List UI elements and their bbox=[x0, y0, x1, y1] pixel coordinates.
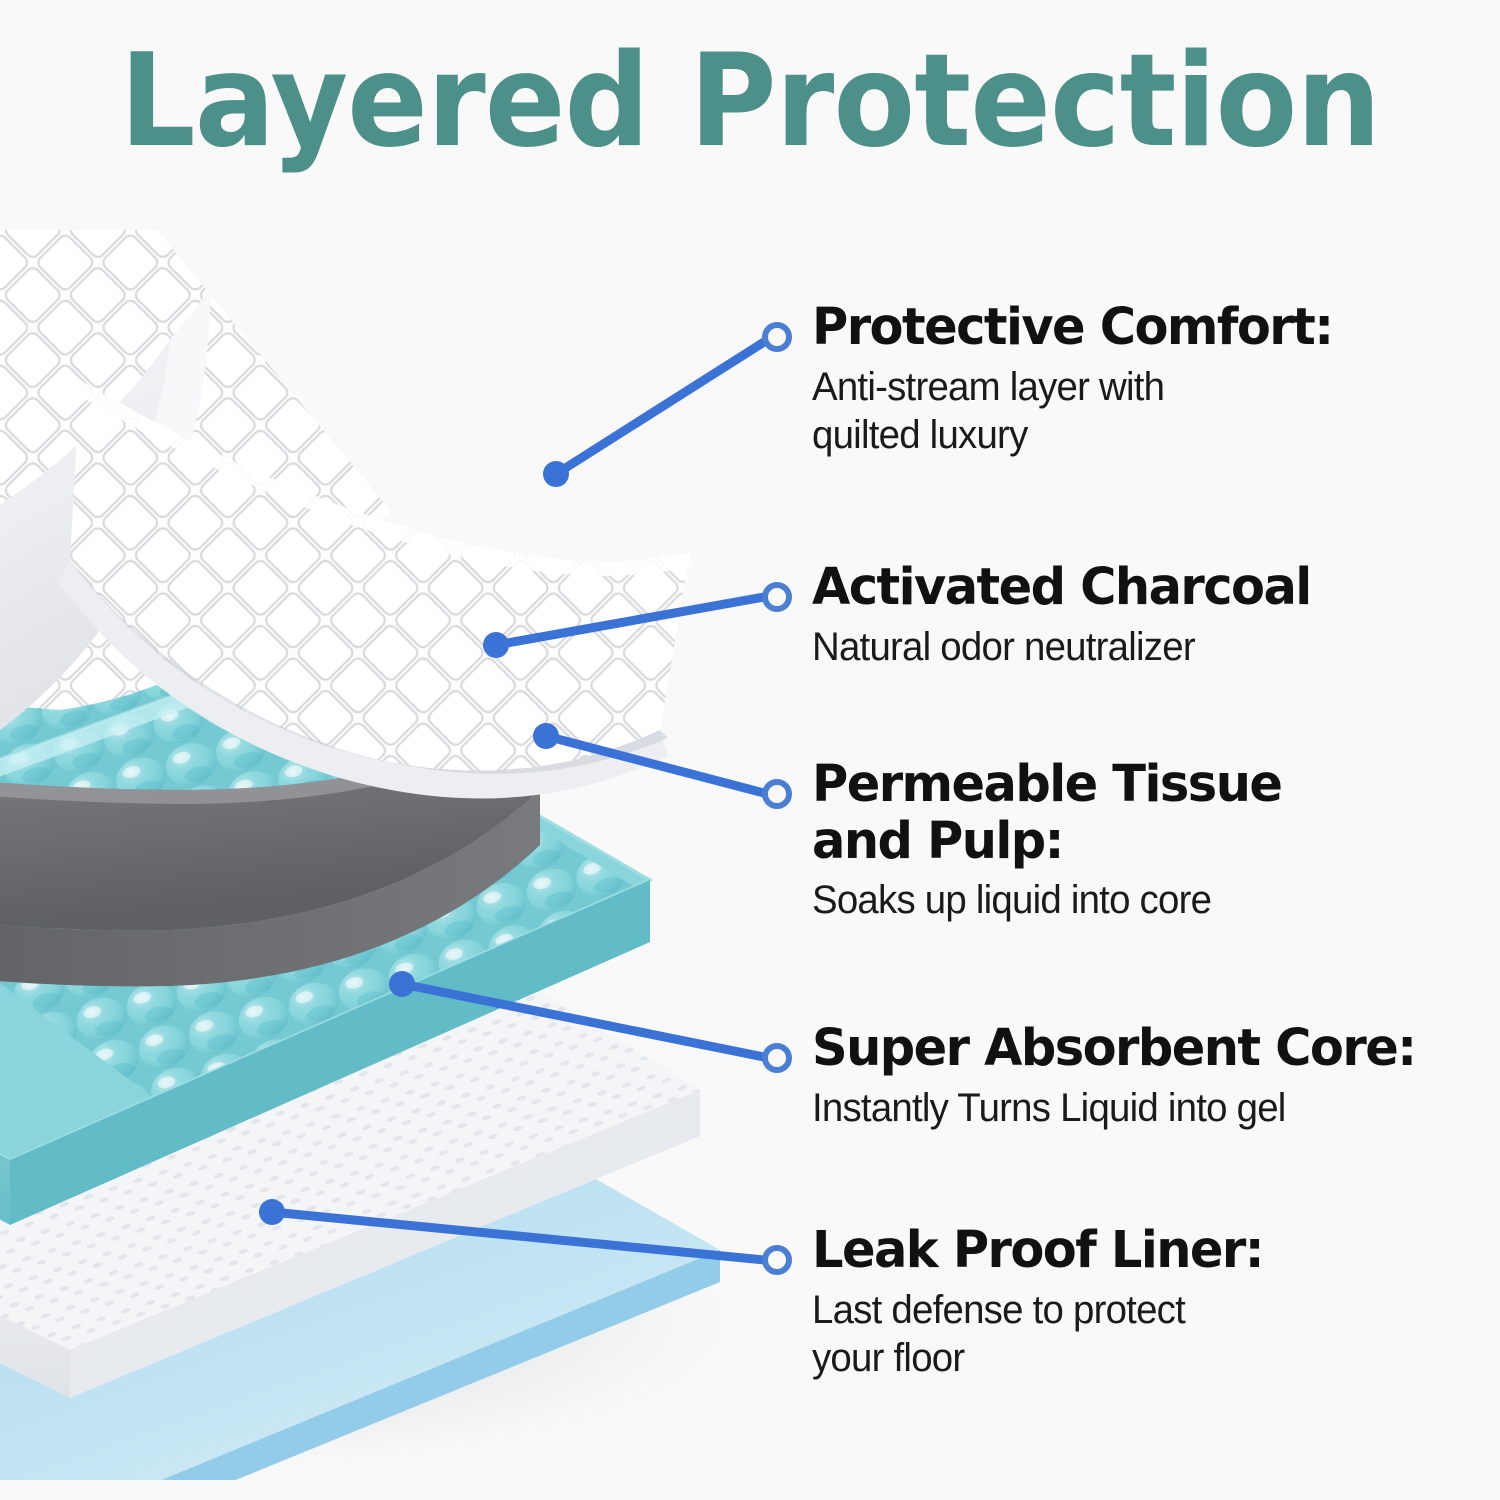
callout-activated-charcoal: Activated Charcoal Natural odor neutrali… bbox=[762, 560, 1492, 671]
callout-description: Anti-stream layer with quilted luxury bbox=[812, 363, 1465, 461]
callout-text-block: Permeable Tissue and Pulp: Soaks up liqu… bbox=[812, 757, 1492, 925]
infographic-canvas: Layered Protection bbox=[0, 0, 1500, 1500]
callout-text-block: Super Absorbent Core: Instantly Turns Li… bbox=[812, 1021, 1492, 1132]
open-circle-marker-icon bbox=[762, 1245, 792, 1275]
open-circle-marker-icon bbox=[762, 322, 792, 352]
callout-description: Natural odor neutralizer bbox=[812, 623, 1465, 672]
callout-text-block: Leak Proof Liner: Last defense to protec… bbox=[812, 1223, 1492, 1383]
callout-description: Soaks up liquid into core bbox=[812, 876, 1465, 925]
callout-description: Last defense to protect your floor bbox=[812, 1286, 1465, 1384]
callout-leak-proof-liner: Leak Proof Liner: Last defense to protec… bbox=[762, 1223, 1492, 1383]
callout-text-block: Protective Comfort: Anti-stream layer wi… bbox=[812, 300, 1492, 460]
callout-heading: Leak Proof Liner: bbox=[812, 1223, 1472, 1280]
callout-heading: Protective Comfort: bbox=[812, 300, 1472, 357]
callout-super-absorbent-core: Super Absorbent Core: Instantly Turns Li… bbox=[762, 1021, 1492, 1132]
callout-heading: Activated Charcoal bbox=[812, 560, 1472, 617]
callout-heading: Super Absorbent Core: bbox=[812, 1021, 1472, 1078]
callout-description: Instantly Turns Liquid into gel bbox=[812, 1084, 1465, 1133]
open-circle-marker-icon bbox=[762, 1043, 792, 1073]
exploded-layers-illustration bbox=[0, 230, 790, 1480]
callout-list: Protective Comfort: Anti-stream layer wi… bbox=[762, 0, 1500, 1500]
open-circle-marker-icon bbox=[762, 582, 792, 612]
callout-text-block: Activated Charcoal Natural odor neutrali… bbox=[812, 560, 1492, 671]
callout-protective-comfort: Protective Comfort: Anti-stream layer wi… bbox=[762, 300, 1492, 460]
open-circle-marker-icon bbox=[762, 779, 792, 809]
callout-permeable-tissue-and-pulp: Permeable Tissue and Pulp: Soaks up liqu… bbox=[762, 757, 1492, 925]
callout-heading: Permeable Tissue and Pulp: bbox=[812, 757, 1472, 870]
